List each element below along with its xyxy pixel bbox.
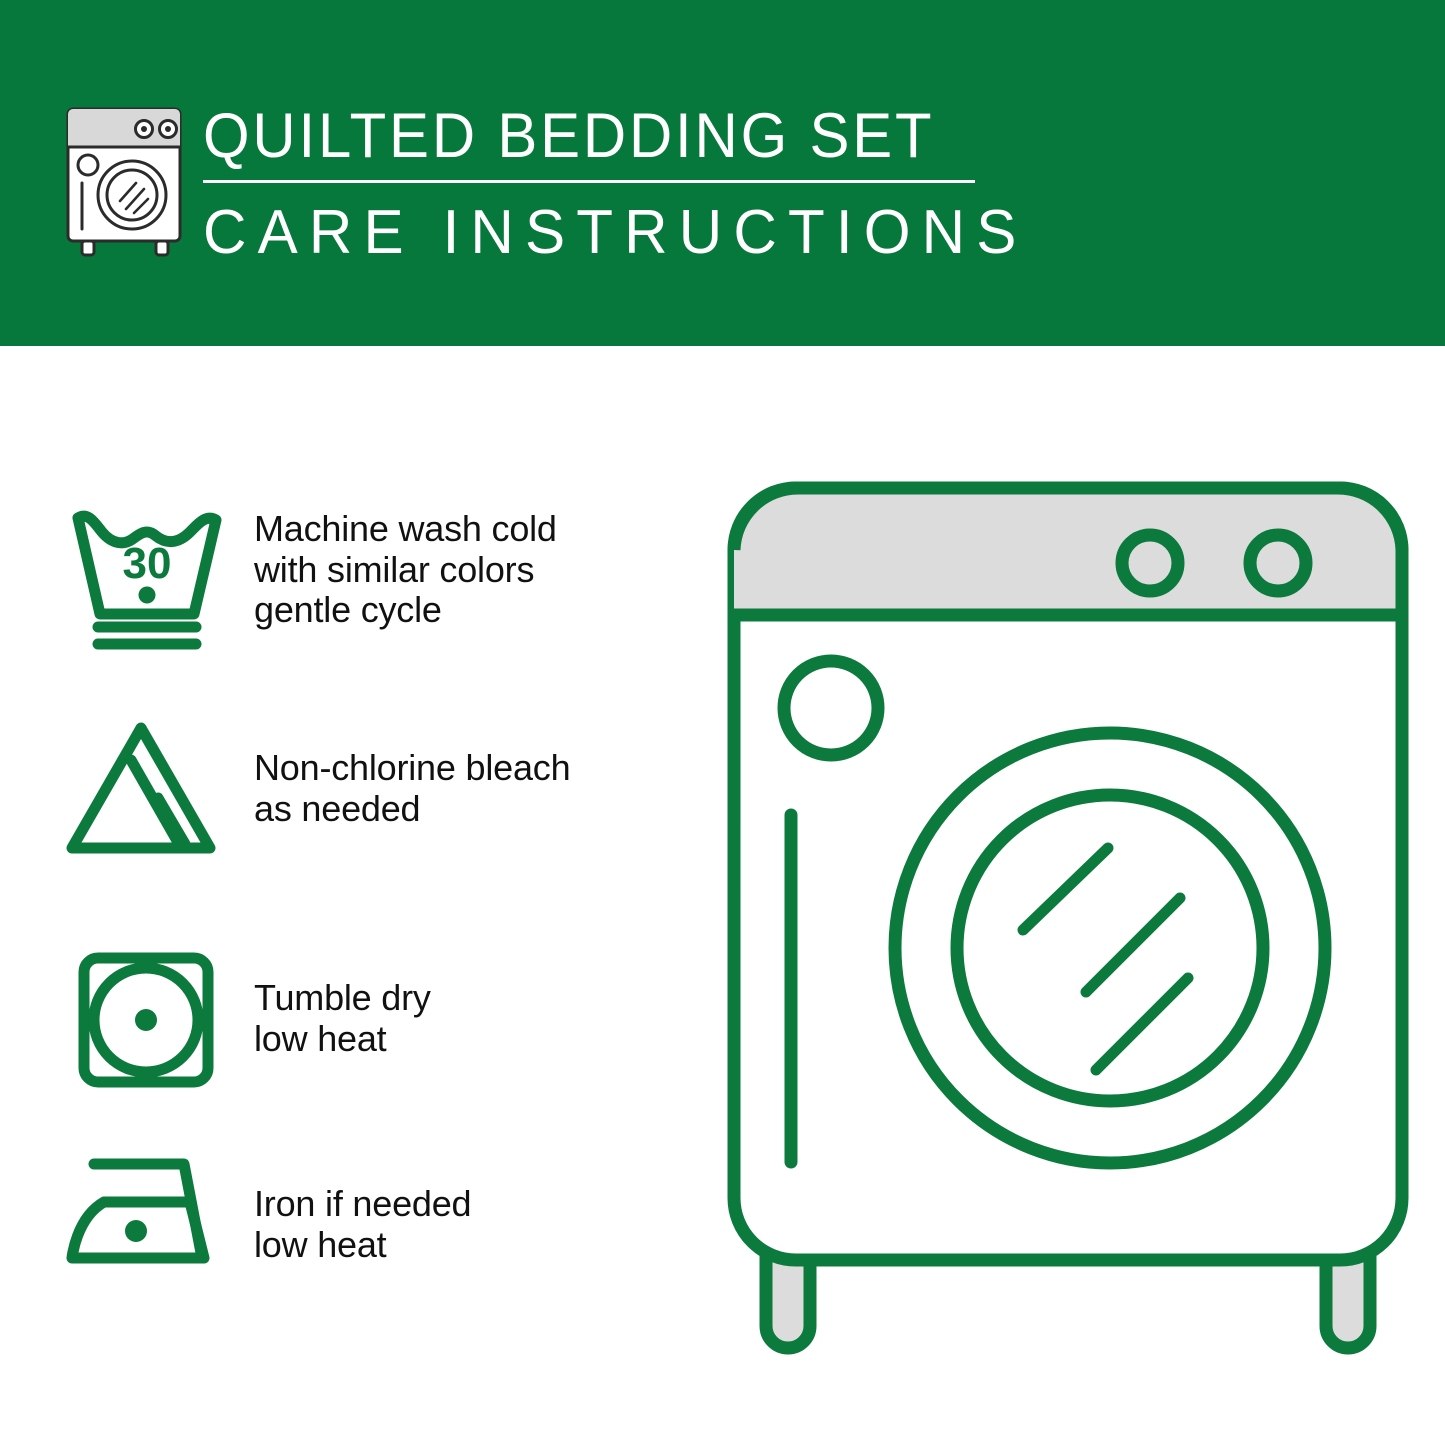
page-title: QUILTED BEDDING SET xyxy=(203,99,954,173)
care-label-tumble-dry: Tumble dry low heat xyxy=(242,946,700,1059)
leg-right xyxy=(1326,1254,1370,1348)
care-label-iron: Iron if needed low heat xyxy=(242,1146,700,1265)
control-knob-left xyxy=(1122,535,1178,591)
care-row-tumble-dry: Tumble dry low heat xyxy=(0,946,700,1096)
iron-icon xyxy=(62,1146,242,1286)
care-label-machine-wash: Machine wash cold with similar colors ge… xyxy=(242,496,700,631)
washing-machine-illustration xyxy=(718,470,1418,1370)
header-band: QUILTED BEDDING SET CARE INSTRUCTIONS xyxy=(0,0,1445,346)
tumble-dry-icon xyxy=(62,946,242,1096)
header-text-block: QUILTED BEDDING SET CARE INSTRUCTIONS xyxy=(203,99,993,269)
control-knob-right xyxy=(1250,535,1306,591)
indicator-light xyxy=(784,661,878,755)
title-divider xyxy=(203,180,975,183)
care-label-bleach: Non-chlorine bleach as needed xyxy=(242,716,700,829)
care-instructions-page: QUILTED BEDDING SET CARE INSTRUCTIONS 30 xyxy=(0,0,1445,1445)
care-row-machine-wash: 30 Machine wash cold with similar colors… xyxy=(0,496,700,651)
care-row-iron: Iron if needed low heat xyxy=(0,1146,700,1286)
care-instructions-list: 30 Machine wash cold with similar colors… xyxy=(0,346,700,1445)
wash-temperature-value: 30 xyxy=(123,539,172,588)
page-subtitle: CARE INSTRUCTIONS xyxy=(203,197,969,269)
washing-machine-icon xyxy=(60,103,190,258)
leg-left xyxy=(766,1254,810,1348)
wash-tub-icon: 30 xyxy=(62,496,242,651)
care-row-bleach: Non-chlorine bleach as needed xyxy=(0,716,700,866)
triangle-bleach-icon xyxy=(62,716,242,866)
